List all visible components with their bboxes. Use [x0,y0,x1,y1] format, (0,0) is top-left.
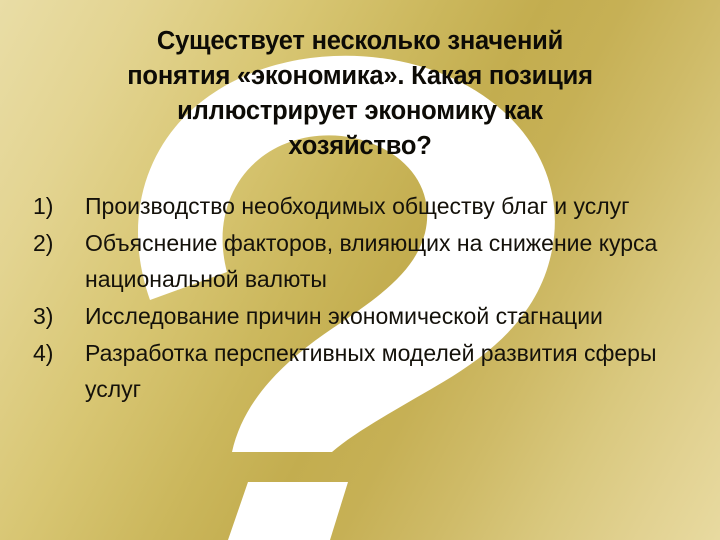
answer-option-1-text: Производство необходимых обществу благ и… [85,188,696,224]
title-line-1: Существует несколько значений [40,24,680,59]
answer-option-3-text: Исследование причин экономической стагна… [85,298,696,334]
answer-option-4[interactable]: 4) Разработка перспективных моделей разв… [28,335,696,407]
answer-option-1-number: 1) [28,188,85,224]
answer-option-4-number: 4) [28,335,85,371]
slide-title: Существует несколько значений понятия «э… [40,24,680,164]
answer-option-3[interactable]: 3) Исследование причин экономической ста… [28,298,696,334]
answer-option-4-text: Разработка перспективных моделей развити… [85,335,696,407]
answer-option-2-text: Объяснение факторов, влияющих на снижени… [85,225,696,297]
answer-option-2-number: 2) [28,225,85,261]
answer-options-list: 1) Производство необходимых обществу бла… [28,188,696,408]
answer-option-3-number: 3) [28,298,85,334]
presentation-slide: Существует несколько значений понятия «э… [0,0,720,540]
title-line-3: иллюстрирует экономику как [40,94,680,129]
title-line-2: понятия «экономика». Какая позиция [40,59,680,94]
answer-option-2[interactable]: 2) Объяснение факторов, влияющих на сниж… [28,225,696,297]
title-line-4: хозяйство? [40,129,680,164]
answer-option-1[interactable]: 1) Производство необходимых обществу бла… [28,188,696,224]
